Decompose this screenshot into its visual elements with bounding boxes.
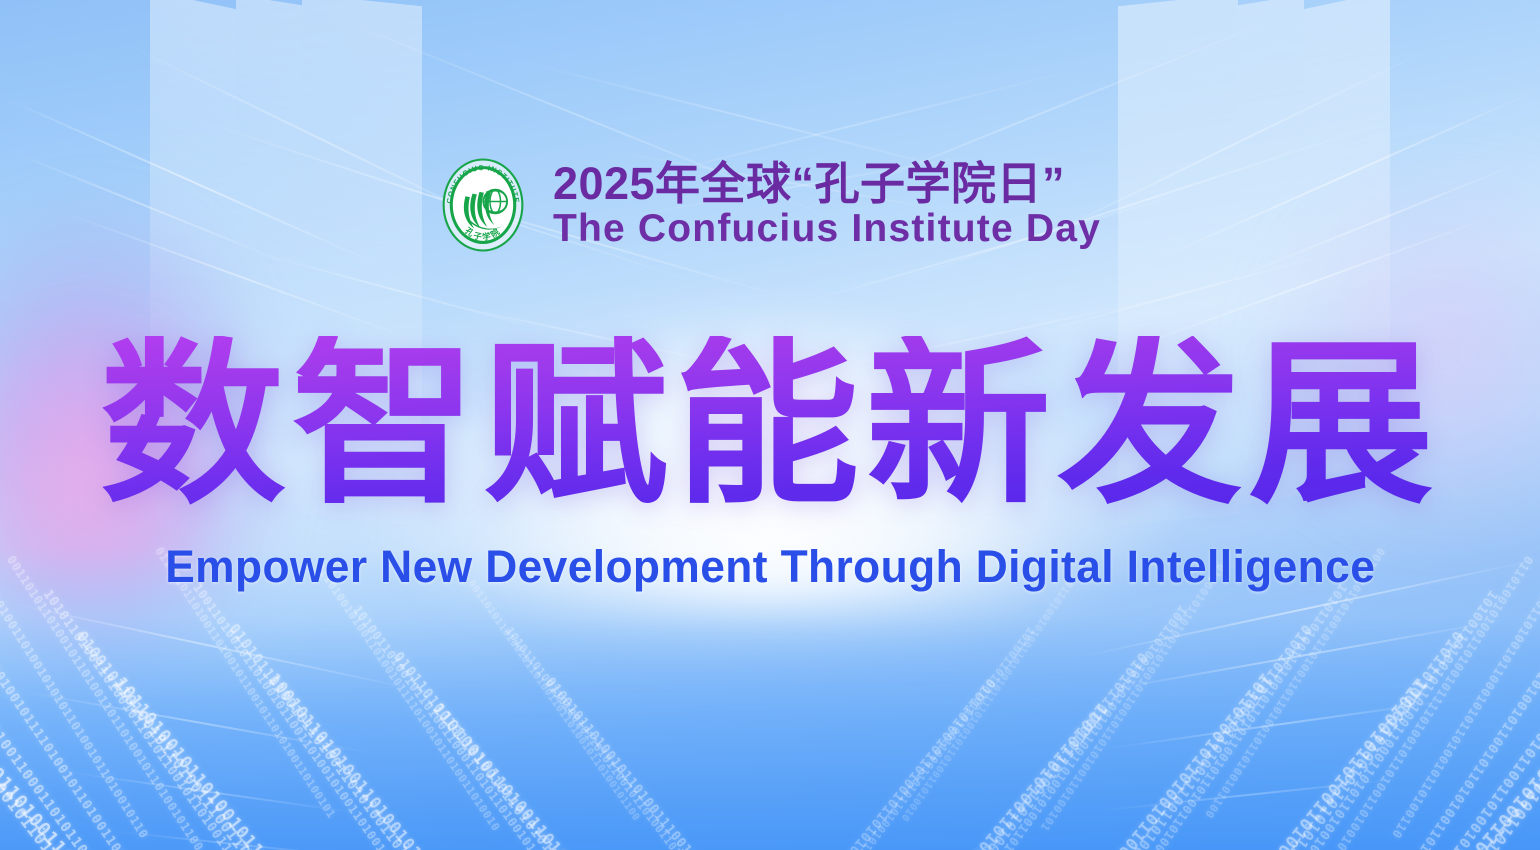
- subtitle-container: Empower New Development Through Digital …: [0, 543, 1540, 590]
- binary-code-stream: 0101101001011010010110101011010011010010…: [748, 675, 998, 850]
- confucius-institute-emblem: CONFUCIUS INSTITUTE 孔子学院: [439, 156, 527, 254]
- header-title-chinese: 2025年全球“孔子学院日”: [553, 160, 1101, 208]
- header-lockup: CONFUCIUS INSTITUTE 孔子学院: [0, 156, 1540, 254]
- subtitle-english: Empower New Development Through Digital …: [165, 543, 1375, 590]
- main-headline-chinese: 数智赋能新发展: [100, 336, 1440, 514]
- binary-code-stream: 0100101101001011010011100110100101101001…: [542, 675, 792, 850]
- light-streak: [250, 250, 540, 329]
- headline-container: 数智赋能新发展: [0, 336, 1540, 514]
- light-streak: [1030, 254, 1330, 336]
- header-title-english: The Confucius Institute Day: [553, 208, 1101, 250]
- confucius-institute-day-banner: 1001011010100110100101010110100101101001…: [0, 0, 1540, 850]
- header-text-block: 2025年全球“孔子学院日” The Confucius Institute D…: [553, 160, 1101, 251]
